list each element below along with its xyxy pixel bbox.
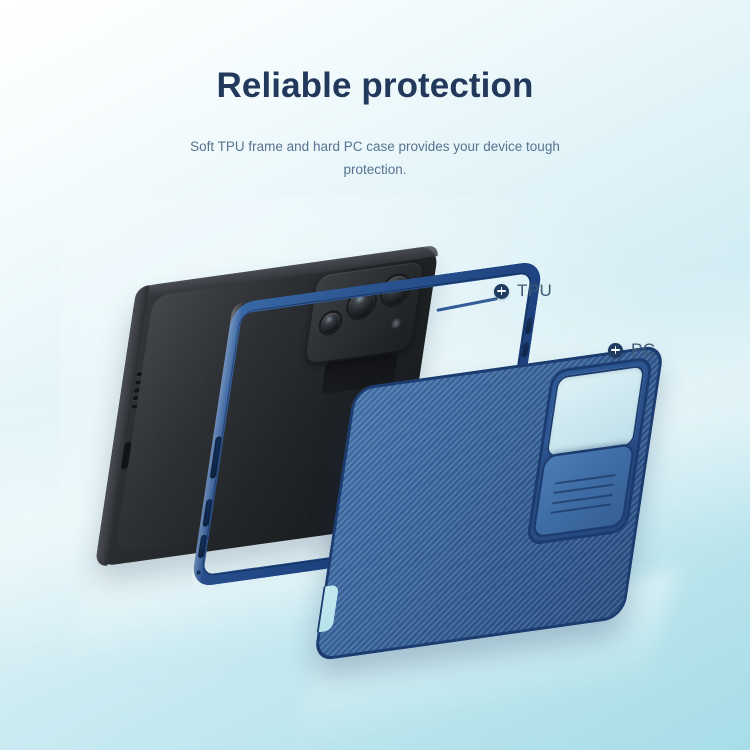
pc-back-cover — [313, 344, 664, 661]
callout-tpu: TPU — [494, 281, 552, 301]
camera-window-opening — [545, 364, 645, 458]
pc-cover-notch — [317, 584, 340, 632]
camera-slider-housing — [526, 356, 654, 546]
header-block: Reliable protection Soft TPU frame and h… — [0, 0, 750, 182]
page-subtitle: Soft TPU frame and hard PC case provides… — [165, 135, 585, 181]
page-title: Reliable protection — [0, 66, 750, 105]
plus-circle-icon — [494, 284, 509, 299]
callout-tpu-label: TPU — [517, 281, 552, 301]
plus-circle-icon — [608, 343, 623, 358]
camera-slider-cover[interactable] — [531, 443, 635, 540]
pc-cover-body — [313, 344, 664, 661]
callout-pc-label: PC — [631, 340, 655, 360]
product-feature-banner: Reliable protection Soft TPU frame and h… — [0, 0, 750, 750]
slider-grip-lines-icon — [550, 474, 615, 514]
callout-pc: PC — [608, 340, 655, 360]
